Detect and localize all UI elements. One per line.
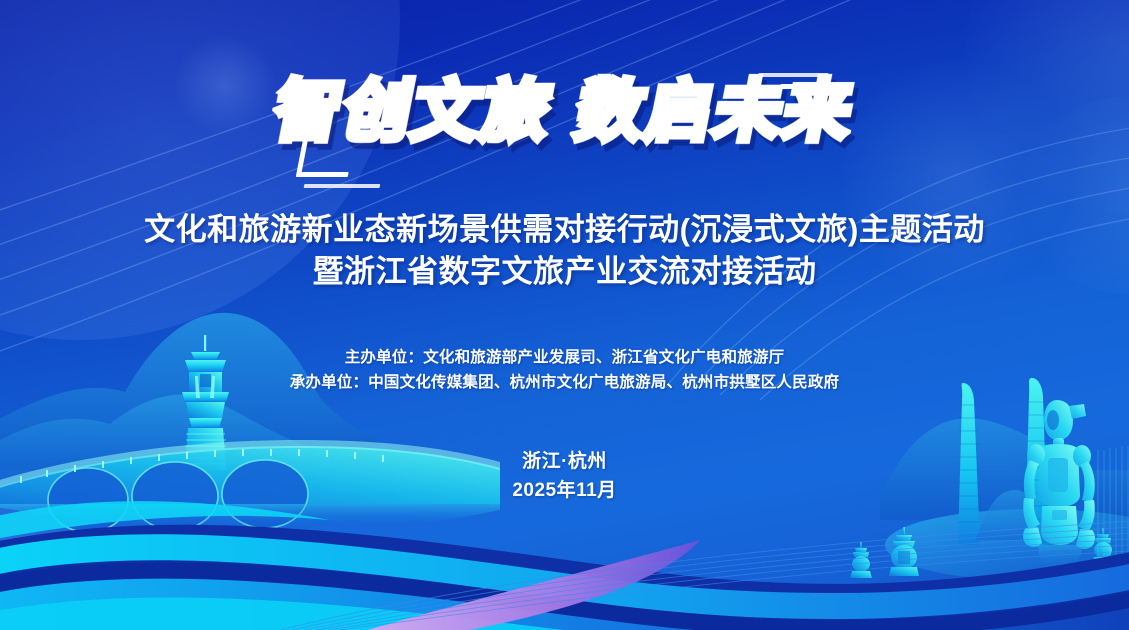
headline-part-1: 智创文旅 [268,74,558,148]
organizer-block: 主办单位：文化和旅游部产业发展司、浙江省文化广电和旅游厅 承办单位：中国文化传媒… [0,345,1129,395]
event-poster: 智创文旅数启未来 文化和旅游新业态新场景供需对接行动(沉浸式文旅)主题活动 暨浙… [0,0,1129,630]
ground-platform [885,509,1129,581]
wave-ribbons [0,501,1129,630]
venue-block: 浙江·杭州 2025年11月 [0,448,1129,505]
host-organization: 主办单位：文化和旅游部产业发展司、浙江省文化广电和旅游厅 [0,345,1129,370]
venue-location: 浙江·杭州 [0,448,1129,477]
event-subtitle: 文化和旅游新业态新场景供需对接行动(沉浸式文旅)主题活动 暨浙江省数字文旅产业交… [0,209,1129,294]
headline-part-2: 数启未来 [570,74,860,148]
subtitle-line-1: 文化和旅游新业态新场景供需对接行动(沉浸式文旅)主题活动 [0,209,1129,251]
stupa-pagodas [850,527,1114,578]
subtitle-line-2: 暨浙江省数字文旅产业交流对接活动 [0,251,1129,293]
headline-block: 智创文旅数启未来 [0,78,1129,144]
executing-organization: 承办单位：中国文化传媒集团、杭州市文化广电旅游局、杭州市拱墅区人民政府 [0,370,1129,395]
venue-date: 2025年11月 [0,477,1129,506]
main-headline: 智创文旅数启未来 [255,78,874,144]
